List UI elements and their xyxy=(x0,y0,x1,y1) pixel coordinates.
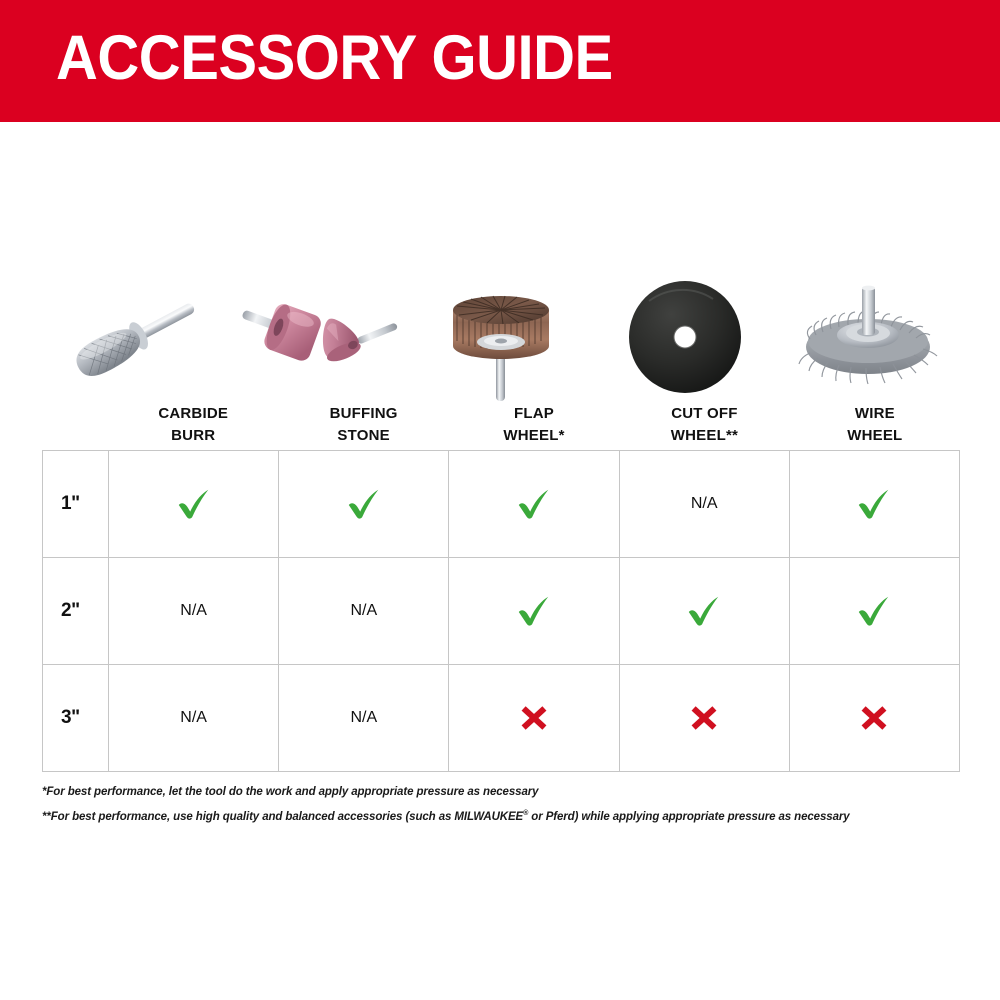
column-header-buffing-stone: BUFFING STONE xyxy=(278,403,448,449)
footnote-single-asterisk: *For best performance, let the tool do t… xyxy=(42,782,962,803)
compatibility-table: 1" N/A 2" N/A N/A 3" N/A N/A xyxy=(42,450,960,772)
check-icon xyxy=(175,485,213,523)
na-label: N/A xyxy=(180,709,207,727)
product-cut-off-wheel xyxy=(593,255,777,405)
cross-icon xyxy=(688,702,720,734)
cell-1in-carbide-burr xyxy=(109,451,279,557)
row-label-3in: 3" xyxy=(43,665,109,771)
carbide-burr-icon xyxy=(42,275,226,405)
na-label: N/A xyxy=(350,709,377,727)
check-icon xyxy=(685,592,723,630)
cell-2in-cut-off-wheel xyxy=(620,558,790,664)
cell-1in-flap-wheel xyxy=(449,451,619,557)
product-wire-wheel xyxy=(776,255,960,405)
product-buffing-stone xyxy=(226,255,410,405)
table-row: 1" N/A xyxy=(43,451,959,558)
buffing-stone-icon xyxy=(226,275,410,405)
cell-1in-wire-wheel xyxy=(790,451,959,557)
cell-3in-flap-wheel xyxy=(449,665,619,771)
table-row: 3" N/A N/A xyxy=(43,665,959,771)
check-icon xyxy=(855,485,893,523)
na-label: N/A xyxy=(691,495,718,513)
cell-3in-buffing-stone: N/A xyxy=(279,665,449,771)
column-header-carbide-burr: CARBIDE BURR xyxy=(108,403,278,449)
check-icon xyxy=(855,592,893,630)
wire-wheel-icon xyxy=(776,275,960,405)
cut-off-wheel-icon xyxy=(593,275,777,405)
table-row: 2" N/A N/A xyxy=(43,558,959,665)
column-header-flap-wheel: FLAP WHEEL* xyxy=(449,403,619,449)
check-icon xyxy=(515,592,553,630)
flap-wheel-icon xyxy=(409,275,593,405)
cell-3in-cut-off-wheel xyxy=(620,665,790,771)
product-flap-wheel xyxy=(409,255,593,405)
column-header-wire-wheel: WIRE WHEEL xyxy=(790,403,960,449)
cell-1in-buffing-stone xyxy=(279,451,449,557)
cell-2in-flap-wheel xyxy=(449,558,619,664)
product-carbide-burr xyxy=(42,255,226,405)
product-image-strip xyxy=(42,255,960,405)
page-title: ACCESSORY GUIDE xyxy=(56,22,613,94)
cell-3in-wire-wheel xyxy=(790,665,959,771)
cell-2in-buffing-stone: N/A xyxy=(279,558,449,664)
cross-icon xyxy=(858,702,890,734)
table-column-headers: CARBIDE BURR BUFFING STONE FLAP WHEEL* C… xyxy=(108,403,960,449)
cell-1in-cut-off-wheel: N/A xyxy=(620,451,790,557)
check-icon xyxy=(345,485,383,523)
check-icon xyxy=(515,485,553,523)
column-header-cut-off-wheel: CUT OFF WHEEL** xyxy=(619,403,789,449)
footnote-double-asterisk: **For best performance, use high quality… xyxy=(42,803,962,828)
header-banner: ACCESSORY GUIDE xyxy=(0,0,1000,122)
na-label: N/A xyxy=(180,602,207,620)
cell-2in-wire-wheel xyxy=(790,558,959,664)
na-label: N/A xyxy=(350,602,377,620)
cell-2in-carbide-burr: N/A xyxy=(109,558,279,664)
cell-3in-carbide-burr: N/A xyxy=(109,665,279,771)
row-label-2in: 2" xyxy=(43,558,109,664)
cross-icon xyxy=(518,702,550,734)
row-label-1in: 1" xyxy=(43,451,109,557)
footnotes: *For best performance, let the tool do t… xyxy=(42,782,962,828)
registered-trademark-mark: ® xyxy=(523,810,528,817)
